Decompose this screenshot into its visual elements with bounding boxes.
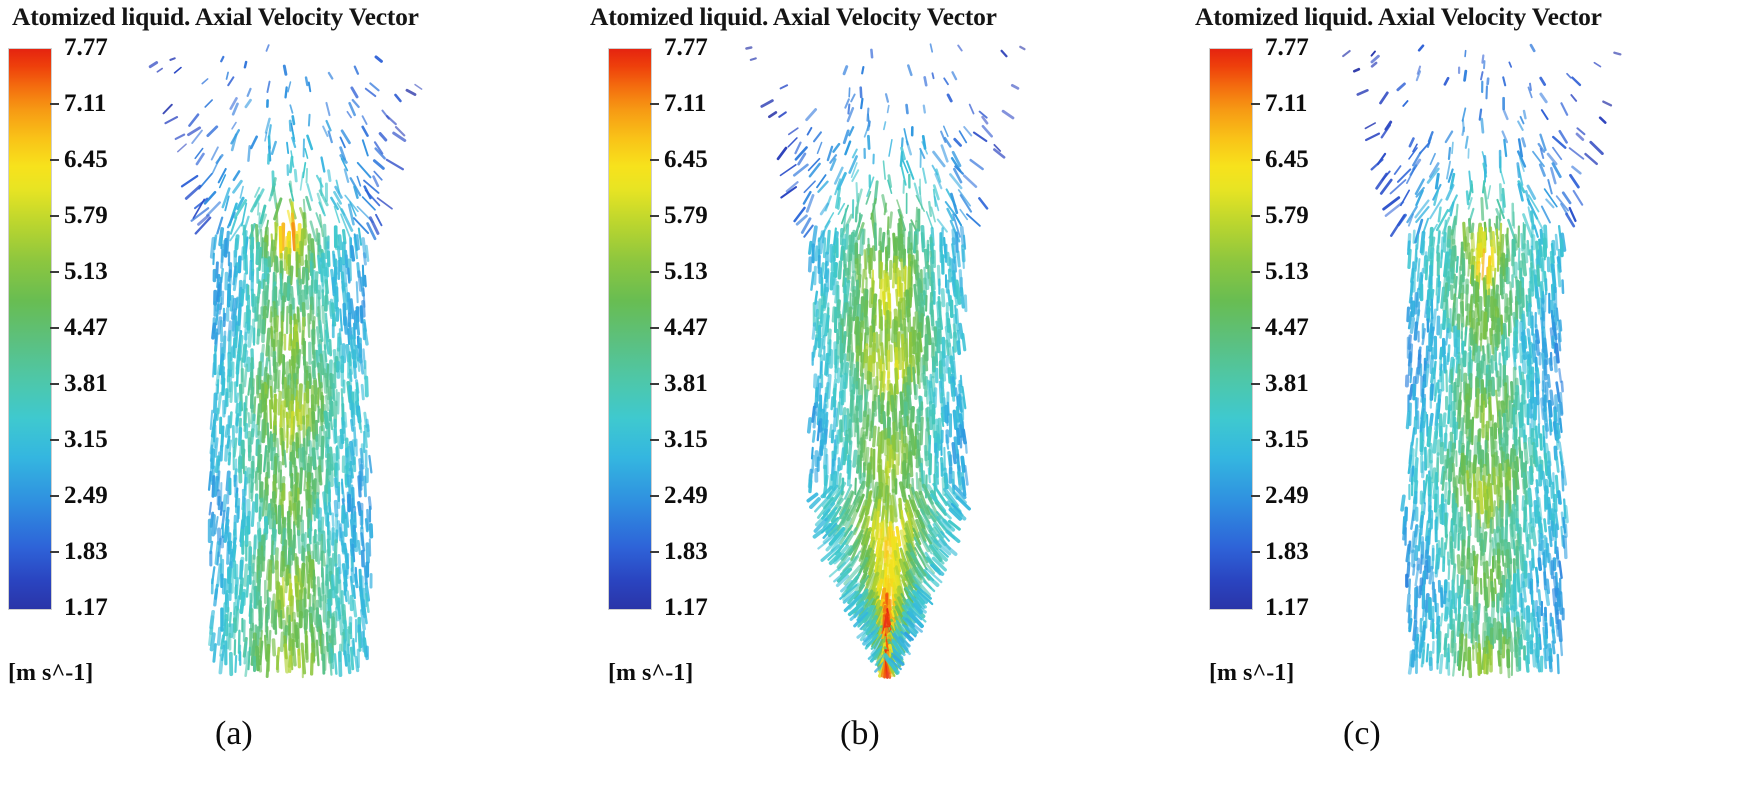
velocity-vector bbox=[248, 146, 249, 160]
velocity-vector bbox=[965, 466, 967, 484]
velocity-vector bbox=[354, 586, 355, 599]
velocity-vector bbox=[369, 456, 371, 472]
velocity-vector bbox=[284, 66, 286, 74]
velocity-vector bbox=[1429, 428, 1431, 445]
velocity-vector bbox=[215, 590, 217, 605]
velocity-vector bbox=[1403, 101, 1407, 106]
velocity-vector bbox=[387, 160, 403, 169]
velocity-vector bbox=[1538, 405, 1539, 424]
velocity-vector bbox=[314, 449, 315, 468]
velocity-vector bbox=[1490, 520, 1491, 542]
velocity-vector bbox=[356, 657, 358, 670]
velocity-vector bbox=[1527, 657, 1528, 671]
velocity-vector bbox=[1493, 379, 1494, 395]
velocity-vector bbox=[839, 262, 840, 278]
velocity-vector bbox=[1502, 551, 1503, 565]
colorbar-tick-label: 3.15 bbox=[64, 427, 108, 452]
velocity-vector bbox=[344, 231, 345, 243]
velocity-vector bbox=[1511, 525, 1513, 547]
velocity-vector bbox=[1499, 378, 1500, 396]
velocity-vector bbox=[329, 131, 332, 142]
panel-c-colorbar-ticks bbox=[1251, 48, 1261, 608]
velocity-vector bbox=[239, 257, 240, 271]
velocity-vector bbox=[1481, 72, 1482, 79]
velocity-vector bbox=[1550, 420, 1551, 431]
velocity-vector bbox=[884, 122, 886, 129]
velocity-vector bbox=[1435, 595, 1436, 612]
velocity-vector bbox=[890, 213, 891, 228]
velocity-vector bbox=[368, 426, 369, 436]
velocity-vector bbox=[907, 105, 908, 113]
velocity-vector bbox=[1510, 402, 1511, 427]
colorbar-tick-label: 5.79 bbox=[1265, 203, 1309, 228]
velocity-vector bbox=[1560, 562, 1562, 578]
velocity-vector bbox=[832, 397, 833, 409]
velocity-vector bbox=[272, 142, 276, 154]
velocity-vector bbox=[188, 128, 199, 135]
velocity-vector bbox=[877, 333, 878, 351]
velocity-vector bbox=[1508, 651, 1510, 677]
velocity-vector bbox=[845, 142, 850, 154]
panel-b: Atomized liquid. Axial Velocity Vector 7… bbox=[590, 0, 1170, 794]
velocity-vector bbox=[1500, 185, 1501, 201]
velocity-vector bbox=[1412, 532, 1414, 551]
velocity-vector bbox=[345, 169, 348, 181]
panel-c-title: Atomized liquid. Axial Velocity Vector bbox=[1195, 2, 1602, 32]
velocity-vector bbox=[1366, 134, 1379, 140]
velocity-vector bbox=[807, 110, 816, 120]
velocity-vector bbox=[307, 557, 308, 583]
velocity-vector bbox=[1484, 533, 1485, 551]
colorbar-tick bbox=[1251, 215, 1260, 217]
colorbar-tick bbox=[1251, 439, 1260, 441]
velocity-vector bbox=[971, 160, 983, 169]
velocity-vector bbox=[355, 512, 356, 527]
velocity-vector bbox=[1586, 154, 1597, 164]
velocity-vector bbox=[961, 288, 963, 307]
velocity-vector bbox=[839, 474, 840, 488]
velocity-vector bbox=[1539, 531, 1540, 542]
velocity-vector bbox=[1482, 56, 1483, 63]
velocity-vector bbox=[315, 396, 316, 410]
velocity-vector bbox=[762, 101, 773, 107]
velocity-vector bbox=[1423, 608, 1424, 620]
velocity-vector bbox=[1530, 439, 1531, 456]
velocity-vector bbox=[942, 146, 948, 162]
velocity-vector bbox=[335, 552, 336, 565]
velocity-vector bbox=[861, 354, 862, 375]
velocity-vector bbox=[286, 570, 287, 592]
velocity-vector bbox=[1441, 325, 1442, 338]
velocity-vector bbox=[1416, 258, 1417, 271]
velocity-vector bbox=[359, 633, 360, 650]
velocity-vector bbox=[769, 112, 775, 116]
velocity-vector bbox=[1525, 401, 1526, 416]
velocity-vector bbox=[280, 227, 281, 257]
velocity-vector bbox=[907, 142, 911, 155]
velocity-vector bbox=[305, 149, 307, 158]
velocity-vector bbox=[319, 529, 320, 544]
velocity-vector bbox=[213, 363, 214, 376]
velocity-vector bbox=[221, 502, 222, 514]
velocity-vector bbox=[1412, 319, 1414, 332]
velocity-vector bbox=[334, 279, 335, 295]
velocity-vector bbox=[930, 383, 932, 402]
velocity-vector bbox=[835, 362, 836, 378]
velocity-vector bbox=[1422, 651, 1424, 666]
velocity-vector bbox=[1446, 132, 1452, 142]
velocity-vector bbox=[1511, 586, 1512, 609]
velocity-vector bbox=[353, 639, 354, 655]
velocity-vector bbox=[1516, 441, 1517, 454]
velocity-vector bbox=[265, 133, 267, 141]
velocity-vector bbox=[779, 112, 786, 116]
velocity-vector bbox=[218, 565, 220, 586]
velocity-vector bbox=[979, 198, 987, 208]
velocity-vector bbox=[1395, 166, 1401, 174]
velocity-vector bbox=[215, 394, 216, 412]
velocity-vector bbox=[1441, 251, 1442, 268]
velocity-vector bbox=[207, 203, 219, 216]
velocity-vector bbox=[216, 439, 218, 457]
velocity-vector bbox=[252, 503, 253, 526]
velocity-vector bbox=[248, 89, 251, 96]
velocity-vector bbox=[1556, 235, 1557, 249]
velocity-vector bbox=[327, 121, 331, 130]
velocity-vector bbox=[1496, 454, 1497, 475]
velocity-vector bbox=[1531, 278, 1532, 295]
velocity-vector bbox=[923, 374, 924, 388]
velocity-vector bbox=[1451, 543, 1452, 564]
colorbar-tick-label: 7.11 bbox=[64, 91, 106, 116]
colorbar-tick-label: 7.77 bbox=[664, 35, 708, 60]
velocity-vector bbox=[1482, 198, 1483, 219]
velocity-vector bbox=[1559, 334, 1561, 350]
velocity-vector bbox=[861, 230, 862, 254]
velocity-vector bbox=[953, 444, 955, 463]
velocity-vector bbox=[955, 291, 957, 305]
velocity-vector bbox=[1557, 457, 1559, 472]
velocity-vector bbox=[896, 396, 897, 410]
velocity-vector bbox=[958, 429, 959, 443]
velocity-vector bbox=[1539, 590, 1540, 604]
velocity-vector bbox=[1480, 369, 1481, 393]
velocity-vector bbox=[899, 442, 900, 465]
velocity-vector bbox=[293, 224, 295, 250]
velocity-vector bbox=[270, 400, 271, 428]
velocity-vector bbox=[1381, 93, 1388, 103]
colorbar-tick-label: 3.81 bbox=[664, 371, 708, 396]
velocity-vector bbox=[882, 233, 883, 251]
velocity-vector bbox=[855, 479, 856, 495]
velocity-vector bbox=[929, 468, 930, 482]
velocity-vector bbox=[300, 385, 301, 410]
colorbar-tick-label: 7.77 bbox=[1265, 35, 1309, 60]
velocity-vector bbox=[170, 58, 174, 60]
velocity-vector bbox=[929, 266, 930, 284]
velocity-vector bbox=[1518, 570, 1519, 591]
colorbar-tick-label: 6.45 bbox=[64, 147, 108, 172]
velocity-vector bbox=[1524, 357, 1525, 372]
velocity-vector bbox=[845, 355, 846, 374]
velocity-vector bbox=[353, 100, 359, 107]
velocity-vector bbox=[1410, 655, 1413, 673]
velocity-vector bbox=[1460, 370, 1461, 392]
velocity-vector bbox=[1428, 451, 1430, 466]
velocity-vector bbox=[314, 508, 315, 520]
velocity-vector bbox=[795, 143, 800, 154]
velocity-vector bbox=[948, 95, 951, 101]
velocity-vector bbox=[1434, 191, 1437, 205]
velocity-vector bbox=[245, 365, 247, 386]
velocity-vector bbox=[1437, 278, 1438, 294]
velocity-vector bbox=[231, 413, 232, 427]
velocity-vector bbox=[1358, 90, 1368, 94]
velocity-vector bbox=[959, 190, 970, 206]
velocity-vector bbox=[234, 181, 242, 192]
velocity-vector bbox=[205, 100, 212, 107]
colorbar-tick bbox=[1251, 159, 1260, 161]
velocity-vector bbox=[363, 127, 368, 136]
velocity-vector bbox=[918, 363, 919, 388]
velocity-vector bbox=[1531, 45, 1534, 51]
velocity-vector bbox=[1453, 587, 1454, 607]
panel-c-colorbar bbox=[1209, 48, 1253, 610]
colorbar-tick bbox=[1251, 383, 1260, 385]
velocity-vector bbox=[1481, 243, 1482, 263]
velocity-vector bbox=[230, 332, 231, 353]
panel-b-vector-plot bbox=[738, 42, 1038, 682]
velocity-vector bbox=[861, 99, 862, 108]
velocity-vector bbox=[844, 304, 846, 325]
velocity-vector bbox=[1372, 51, 1375, 55]
velocity-vector bbox=[848, 105, 849, 114]
velocity-vector bbox=[1553, 286, 1554, 299]
colorbar-tick-label: 3.81 bbox=[64, 371, 108, 396]
velocity-vector bbox=[1422, 441, 1423, 454]
velocity-vector bbox=[954, 411, 956, 428]
velocity-vector bbox=[333, 554, 334, 574]
velocity-vector bbox=[1524, 582, 1526, 601]
velocity-vector bbox=[1571, 95, 1576, 101]
velocity-vector bbox=[862, 436, 863, 459]
colorbar-tick-label: 4.47 bbox=[664, 315, 708, 340]
velocity-vector bbox=[1572, 78, 1579, 85]
velocity-vector bbox=[1391, 215, 1404, 235]
velocity-vector bbox=[365, 329, 367, 344]
velocity-vector bbox=[1421, 555, 1422, 572]
panel-b-caption: (b) bbox=[840, 715, 880, 753]
velocity-vector bbox=[1492, 429, 1493, 456]
velocity-vector bbox=[1499, 567, 1500, 583]
velocity-vector bbox=[293, 641, 295, 665]
velocity-vector bbox=[1410, 385, 1412, 398]
velocity-vector bbox=[751, 58, 756, 60]
velocity-vector bbox=[288, 82, 290, 92]
velocity-vector bbox=[1441, 589, 1442, 607]
velocity-vector bbox=[304, 471, 305, 490]
velocity-vector bbox=[282, 633, 283, 650]
velocity-vector bbox=[1372, 56, 1378, 62]
velocity-vector bbox=[299, 531, 300, 552]
colorbar-tick bbox=[50, 439, 59, 441]
velocity-vector bbox=[827, 231, 829, 253]
velocity-vector bbox=[1501, 316, 1502, 335]
velocity-vector bbox=[286, 389, 287, 405]
velocity-vector bbox=[893, 264, 894, 287]
velocity-vector bbox=[1343, 51, 1349, 56]
velocity-vector bbox=[342, 131, 349, 143]
velocity-vector bbox=[350, 103, 355, 115]
velocity-vector bbox=[858, 194, 859, 213]
velocity-vector bbox=[354, 218, 368, 233]
velocity-vector bbox=[927, 392, 928, 404]
velocity-vector bbox=[354, 362, 355, 377]
velocity-vector bbox=[1565, 537, 1566, 557]
velocity-vector bbox=[358, 358, 359, 371]
velocity-vector bbox=[387, 116, 396, 124]
velocity-vector bbox=[266, 45, 268, 51]
velocity-vector bbox=[1533, 528, 1535, 545]
velocity-vector bbox=[1565, 507, 1566, 522]
velocity-vector bbox=[841, 448, 843, 468]
velocity-vector bbox=[873, 476, 874, 498]
velocity-vector bbox=[932, 73, 933, 78]
velocity-vector bbox=[778, 148, 786, 159]
velocity-vector bbox=[1542, 110, 1548, 119]
velocity-vector bbox=[301, 172, 303, 189]
velocity-vector bbox=[1559, 621, 1560, 640]
velocity-vector bbox=[257, 647, 258, 669]
velocity-vector bbox=[344, 423, 345, 439]
velocity-vector bbox=[967, 214, 980, 226]
velocity-vector bbox=[1466, 137, 1468, 148]
velocity-vector bbox=[1455, 526, 1456, 548]
velocity-vector bbox=[884, 293, 885, 314]
velocity-vector bbox=[944, 78, 948, 84]
velocity-vector bbox=[834, 144, 840, 152]
velocity-vector bbox=[258, 330, 259, 343]
velocity-vector bbox=[213, 324, 214, 337]
velocity-vector bbox=[323, 306, 324, 322]
velocity-vector bbox=[150, 63, 156, 67]
velocity-vector bbox=[306, 645, 307, 662]
velocity-vector bbox=[1430, 567, 1432, 583]
velocity-vector bbox=[220, 656, 222, 673]
velocity-vector bbox=[915, 437, 916, 457]
velocity-vector bbox=[1416, 565, 1419, 585]
velocity-vector bbox=[1487, 454, 1488, 474]
velocity-vector bbox=[927, 453, 928, 465]
velocity-vector bbox=[1603, 102, 1611, 106]
velocity-vector bbox=[340, 137, 345, 147]
colorbar-tick bbox=[650, 327, 659, 329]
velocity-vector bbox=[228, 77, 233, 85]
velocity-vector bbox=[811, 273, 813, 290]
velocity-vector bbox=[1445, 483, 1446, 501]
colorbar-tick bbox=[650, 271, 659, 273]
velocity-vector bbox=[1427, 644, 1428, 661]
velocity-vector bbox=[376, 215, 382, 225]
velocity-vector bbox=[1372, 160, 1383, 170]
velocity-vector bbox=[1442, 372, 1443, 390]
colorbar-tick-label: 5.79 bbox=[664, 203, 708, 228]
velocity-vector bbox=[285, 645, 287, 671]
colorbar-tick-label: 1.83 bbox=[664, 539, 708, 564]
velocity-vector bbox=[367, 544, 368, 562]
velocity-vector bbox=[1426, 261, 1427, 279]
velocity-vector bbox=[330, 653, 332, 674]
velocity-vector bbox=[358, 541, 360, 554]
panel-c-units: [m s^-1] bbox=[1209, 660, 1294, 687]
velocity-vector bbox=[813, 227, 816, 246]
colorbar-tick-label: 3.15 bbox=[664, 427, 708, 452]
velocity-vector bbox=[376, 57, 381, 61]
velocity-vector bbox=[1503, 280, 1504, 293]
velocity-vector bbox=[361, 307, 362, 322]
velocity-vector bbox=[925, 77, 927, 85]
velocity-vector bbox=[1444, 297, 1445, 310]
velocity-vector bbox=[1487, 562, 1488, 578]
velocity-vector bbox=[1416, 294, 1417, 313]
colorbar-tick bbox=[50, 215, 59, 217]
velocity-vector bbox=[232, 123, 236, 129]
velocity-vector bbox=[307, 169, 308, 183]
velocity-vector bbox=[407, 90, 415, 94]
velocity-vector bbox=[317, 543, 319, 563]
velocity-vector bbox=[882, 507, 884, 522]
velocity-vector bbox=[1521, 635, 1522, 648]
velocity-vector bbox=[1514, 540, 1515, 554]
velocity-vector bbox=[1465, 51, 1466, 57]
velocity-vector bbox=[1432, 369, 1434, 382]
velocity-vector bbox=[310, 563, 311, 588]
velocity-vector bbox=[234, 172, 239, 180]
velocity-vector bbox=[844, 131, 848, 143]
velocity-vector bbox=[868, 136, 869, 148]
velocity-vector bbox=[323, 532, 324, 551]
velocity-vector bbox=[1445, 78, 1448, 84]
velocity-vector bbox=[1459, 412, 1460, 427]
velocity-vector bbox=[1517, 547, 1518, 569]
velocity-vector bbox=[909, 309, 910, 331]
velocity-vector bbox=[814, 413, 815, 427]
velocity-vector bbox=[303, 268, 304, 283]
colorbar-tick-label: 5.13 bbox=[664, 259, 708, 284]
velocity-vector bbox=[1472, 567, 1473, 583]
velocity-vector bbox=[1430, 154, 1435, 165]
colorbar-tick-label: 1.17 bbox=[1265, 595, 1309, 620]
velocity-vector bbox=[832, 431, 833, 442]
velocity-vector bbox=[1446, 329, 1447, 345]
velocity-vector bbox=[810, 258, 811, 270]
velocity-vector bbox=[285, 249, 286, 270]
velocity-vector bbox=[824, 239, 825, 257]
velocity-vector bbox=[1538, 266, 1539, 286]
velocity-vector bbox=[808, 128, 812, 135]
velocity-vector bbox=[365, 567, 366, 583]
velocity-vector bbox=[1417, 369, 1418, 382]
velocity-vector bbox=[1482, 119, 1483, 132]
velocity-vector bbox=[205, 192, 215, 203]
velocity-vector bbox=[320, 322, 322, 341]
velocity-vector bbox=[245, 643, 246, 664]
vector-field-b bbox=[738, 42, 1038, 682]
velocity-vector bbox=[1421, 419, 1422, 432]
colorbar-tick bbox=[650, 215, 659, 217]
velocity-vector bbox=[1567, 74, 1571, 78]
velocity-vector bbox=[815, 267, 816, 284]
